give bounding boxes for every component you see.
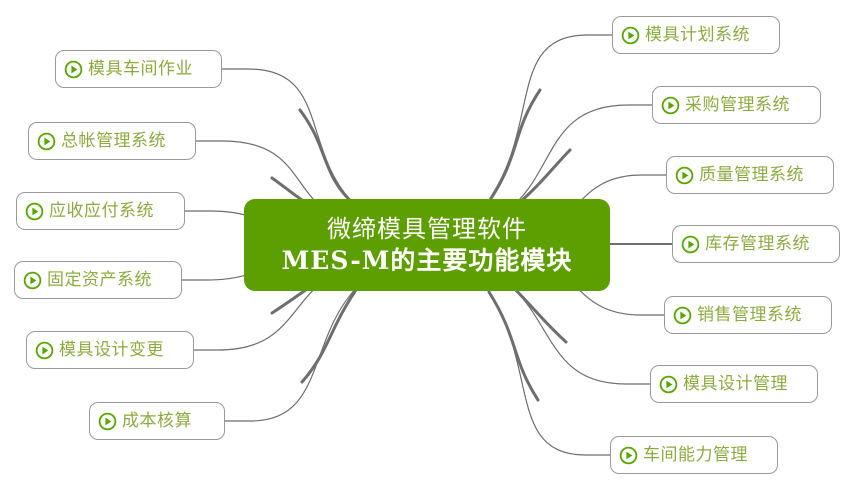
connector-right-7: [491, 296, 610, 455]
branch-label: 车间能力管理: [643, 446, 748, 465]
branch-label: 模具设计管理: [683, 375, 788, 394]
play-circle-icon: [673, 306, 692, 325]
branch-label: 库存管理系统: [705, 235, 810, 254]
branch-node-right-6[interactable]: 模具设计管理: [650, 365, 818, 403]
branch-label: 质量管理系统: [699, 166, 804, 185]
branch-node-right-7[interactable]: 车间能力管理: [610, 436, 778, 474]
branch-label: 应收应付系统: [49, 202, 154, 221]
branch-node-left-2[interactable]: 总帐管理系统: [28, 122, 196, 160]
central-title-line-2: MES-M的主要功能模块: [282, 245, 573, 276]
play-circle-icon: [23, 271, 42, 290]
connector-right-6: [506, 282, 650, 384]
play-circle-icon: [681, 235, 700, 254]
connector-left-6: [225, 286, 358, 421]
branch-node-left-5[interactable]: 模具设计变更: [26, 331, 194, 369]
central-title-line-1: 微缔模具管理软件: [327, 214, 527, 245]
branch-node-right-2[interactable]: 采购管理系统: [652, 86, 821, 124]
branch-label: 总帐管理系统: [61, 132, 166, 151]
play-circle-icon: [25, 202, 44, 221]
branch-node-right-3[interactable]: 质量管理系统: [666, 156, 834, 194]
play-circle-icon: [35, 341, 54, 360]
play-circle-icon: [621, 26, 640, 45]
branch-label: 固定资产系统: [47, 271, 152, 290]
branch-node-right-1[interactable]: 模具计划系统: [612, 16, 780, 54]
branch-node-right-5[interactable]: 销售管理系统: [664, 296, 832, 334]
connector-left-1: [222, 69, 355, 205]
play-circle-icon: [64, 60, 83, 79]
play-circle-icon: [619, 446, 638, 465]
branch-label: 模具车间作业: [88, 60, 193, 79]
branch-label: 采购管理系统: [685, 96, 790, 115]
central-node[interactable]: 微缔模具管理软件 MES-M的主要功能模块: [244, 199, 610, 291]
connector-left-6b: [302, 284, 360, 382]
branch-label: 模具设计变更: [59, 341, 164, 360]
branch-node-right-4[interactable]: 库存管理系统: [672, 225, 840, 263]
play-circle-icon: [37, 132, 56, 151]
branch-node-left-4[interactable]: 固定资产系统: [14, 261, 182, 299]
play-circle-icon: [659, 375, 678, 394]
branch-label: 成本核算: [122, 412, 192, 431]
branch-node-left-6[interactable]: 成本核算: [89, 402, 225, 440]
play-circle-icon: [661, 96, 680, 115]
play-circle-icon: [675, 166, 694, 185]
mind-map-canvas: 微缔模具管理软件 MES-M的主要功能模块 模具车间作业 总帐管理系统 应收应付…: [0, 0, 854, 490]
branch-node-left-1[interactable]: 模具车间作业: [55, 50, 222, 88]
branch-label: 销售管理系统: [697, 306, 802, 325]
branch-node-left-3[interactable]: 应收应付系统: [16, 192, 185, 230]
play-circle-icon: [98, 412, 117, 431]
branch-label: 模具计划系统: [645, 26, 750, 45]
